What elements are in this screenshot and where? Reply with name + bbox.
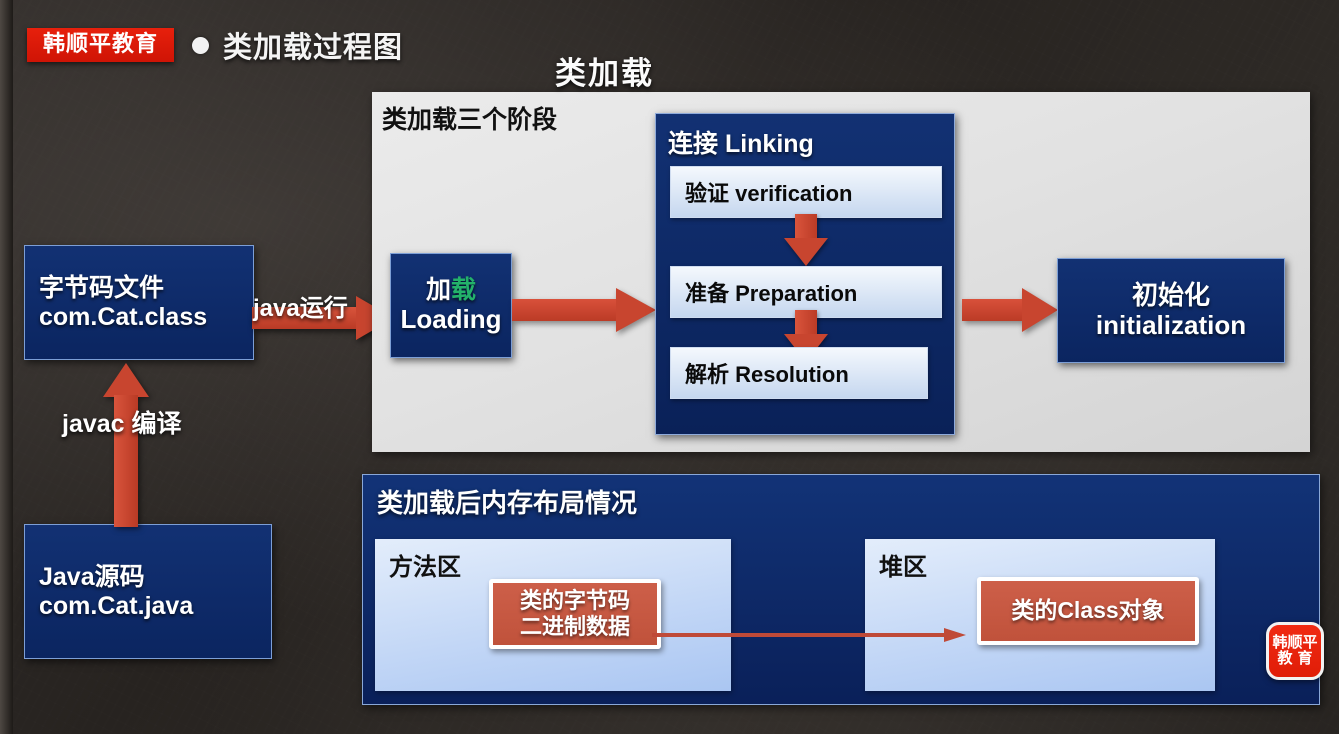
loading-stage-box: 加载 Loading bbox=[390, 253, 512, 358]
loading-stage-en: Loading bbox=[400, 305, 501, 335]
stages-panel-title: 类加载三个阶段 bbox=[382, 100, 557, 136]
javac-label: javac 编译 bbox=[62, 404, 182, 440]
linking-header: 连接 Linking bbox=[668, 124, 814, 160]
heap-area-region: 堆区 类的Class对象 bbox=[865, 539, 1215, 691]
javac-arrow-up-icon bbox=[103, 363, 149, 527]
initialization-stage-box: 初始化 initialization bbox=[1057, 258, 1285, 363]
initialization-en: initialization bbox=[1096, 311, 1246, 341]
loading-highlight-char: 载 bbox=[451, 276, 476, 304]
linking-to-initialization-arrow-icon bbox=[962, 288, 1062, 332]
watermark-line2: 教育 bbox=[1277, 651, 1317, 667]
bytecode-file-line2: com.Cat.class bbox=[39, 303, 253, 332]
memory-layout-panel: 类加载后内存布局情况 方法区 类的字节码 二进制数据 堆区 类的Class对象 bbox=[362, 474, 1320, 705]
initialization-zh: 初始化 bbox=[1132, 281, 1210, 311]
brand-badge: 韩顺平教育 bbox=[27, 28, 174, 62]
bytecode-file-line1: 字节码文件 bbox=[39, 274, 253, 303]
java-source-box: Java源码 com.Cat.java bbox=[24, 524, 272, 659]
linking-stage-box: 连接 Linking 验证 verification 准备 Preparatio… bbox=[655, 113, 955, 435]
bullet-dot-icon bbox=[192, 37, 209, 54]
java-source-line2: com.Cat.java bbox=[39, 592, 271, 621]
slide-canvas: 韩顺平教育 类加载过程图 类加载 字节码文件 com.Cat.class Jav… bbox=[0, 0, 1339, 734]
memory-layout-title: 类加载后内存布局情况 bbox=[377, 483, 637, 520]
java-run-label: java运行 bbox=[253, 288, 348, 323]
watermark-line1: 韩顺平 bbox=[1272, 635, 1317, 651]
loading-to-linking-arrow-icon bbox=[512, 288, 657, 332]
verification-to-preparation-arrow-icon bbox=[784, 214, 828, 266]
bytecode-to-classobject-arrow-icon bbox=[652, 628, 970, 642]
watermark-logo: 韩顺平 教育 bbox=[1266, 622, 1324, 680]
loading-stage-zh: 加载 bbox=[426, 276, 476, 305]
resolution-box: 解析 Resolution bbox=[670, 347, 928, 399]
left-edge-shading bbox=[0, 0, 13, 734]
class-bytecode-item: 类的字节码 二进制数据 bbox=[489, 579, 661, 649]
method-area-label: 方法区 bbox=[389, 547, 461, 582]
java-source-line1: Java源码 bbox=[39, 563, 271, 592]
class-bytecode-line2: 二进制数据 bbox=[520, 614, 630, 640]
method-area-region: 方法区 类的字节码 二进制数据 bbox=[375, 539, 731, 691]
verification-box: 验证 verification bbox=[670, 166, 942, 218]
bytecode-file-box: 字节码文件 com.Cat.class bbox=[24, 245, 254, 360]
header: 韩顺平教育 类加载过程图 bbox=[27, 24, 403, 66]
class-object-item: 类的Class对象 bbox=[977, 577, 1199, 645]
class-object-line1: 类的Class对象 bbox=[1011, 597, 1164, 624]
heap-area-label: 堆区 bbox=[879, 547, 927, 582]
main-caption-text: 类加载 bbox=[555, 48, 654, 93]
class-bytecode-line1: 类的字节码 bbox=[520, 588, 630, 614]
page-title: 类加载过程图 bbox=[223, 24, 403, 66]
